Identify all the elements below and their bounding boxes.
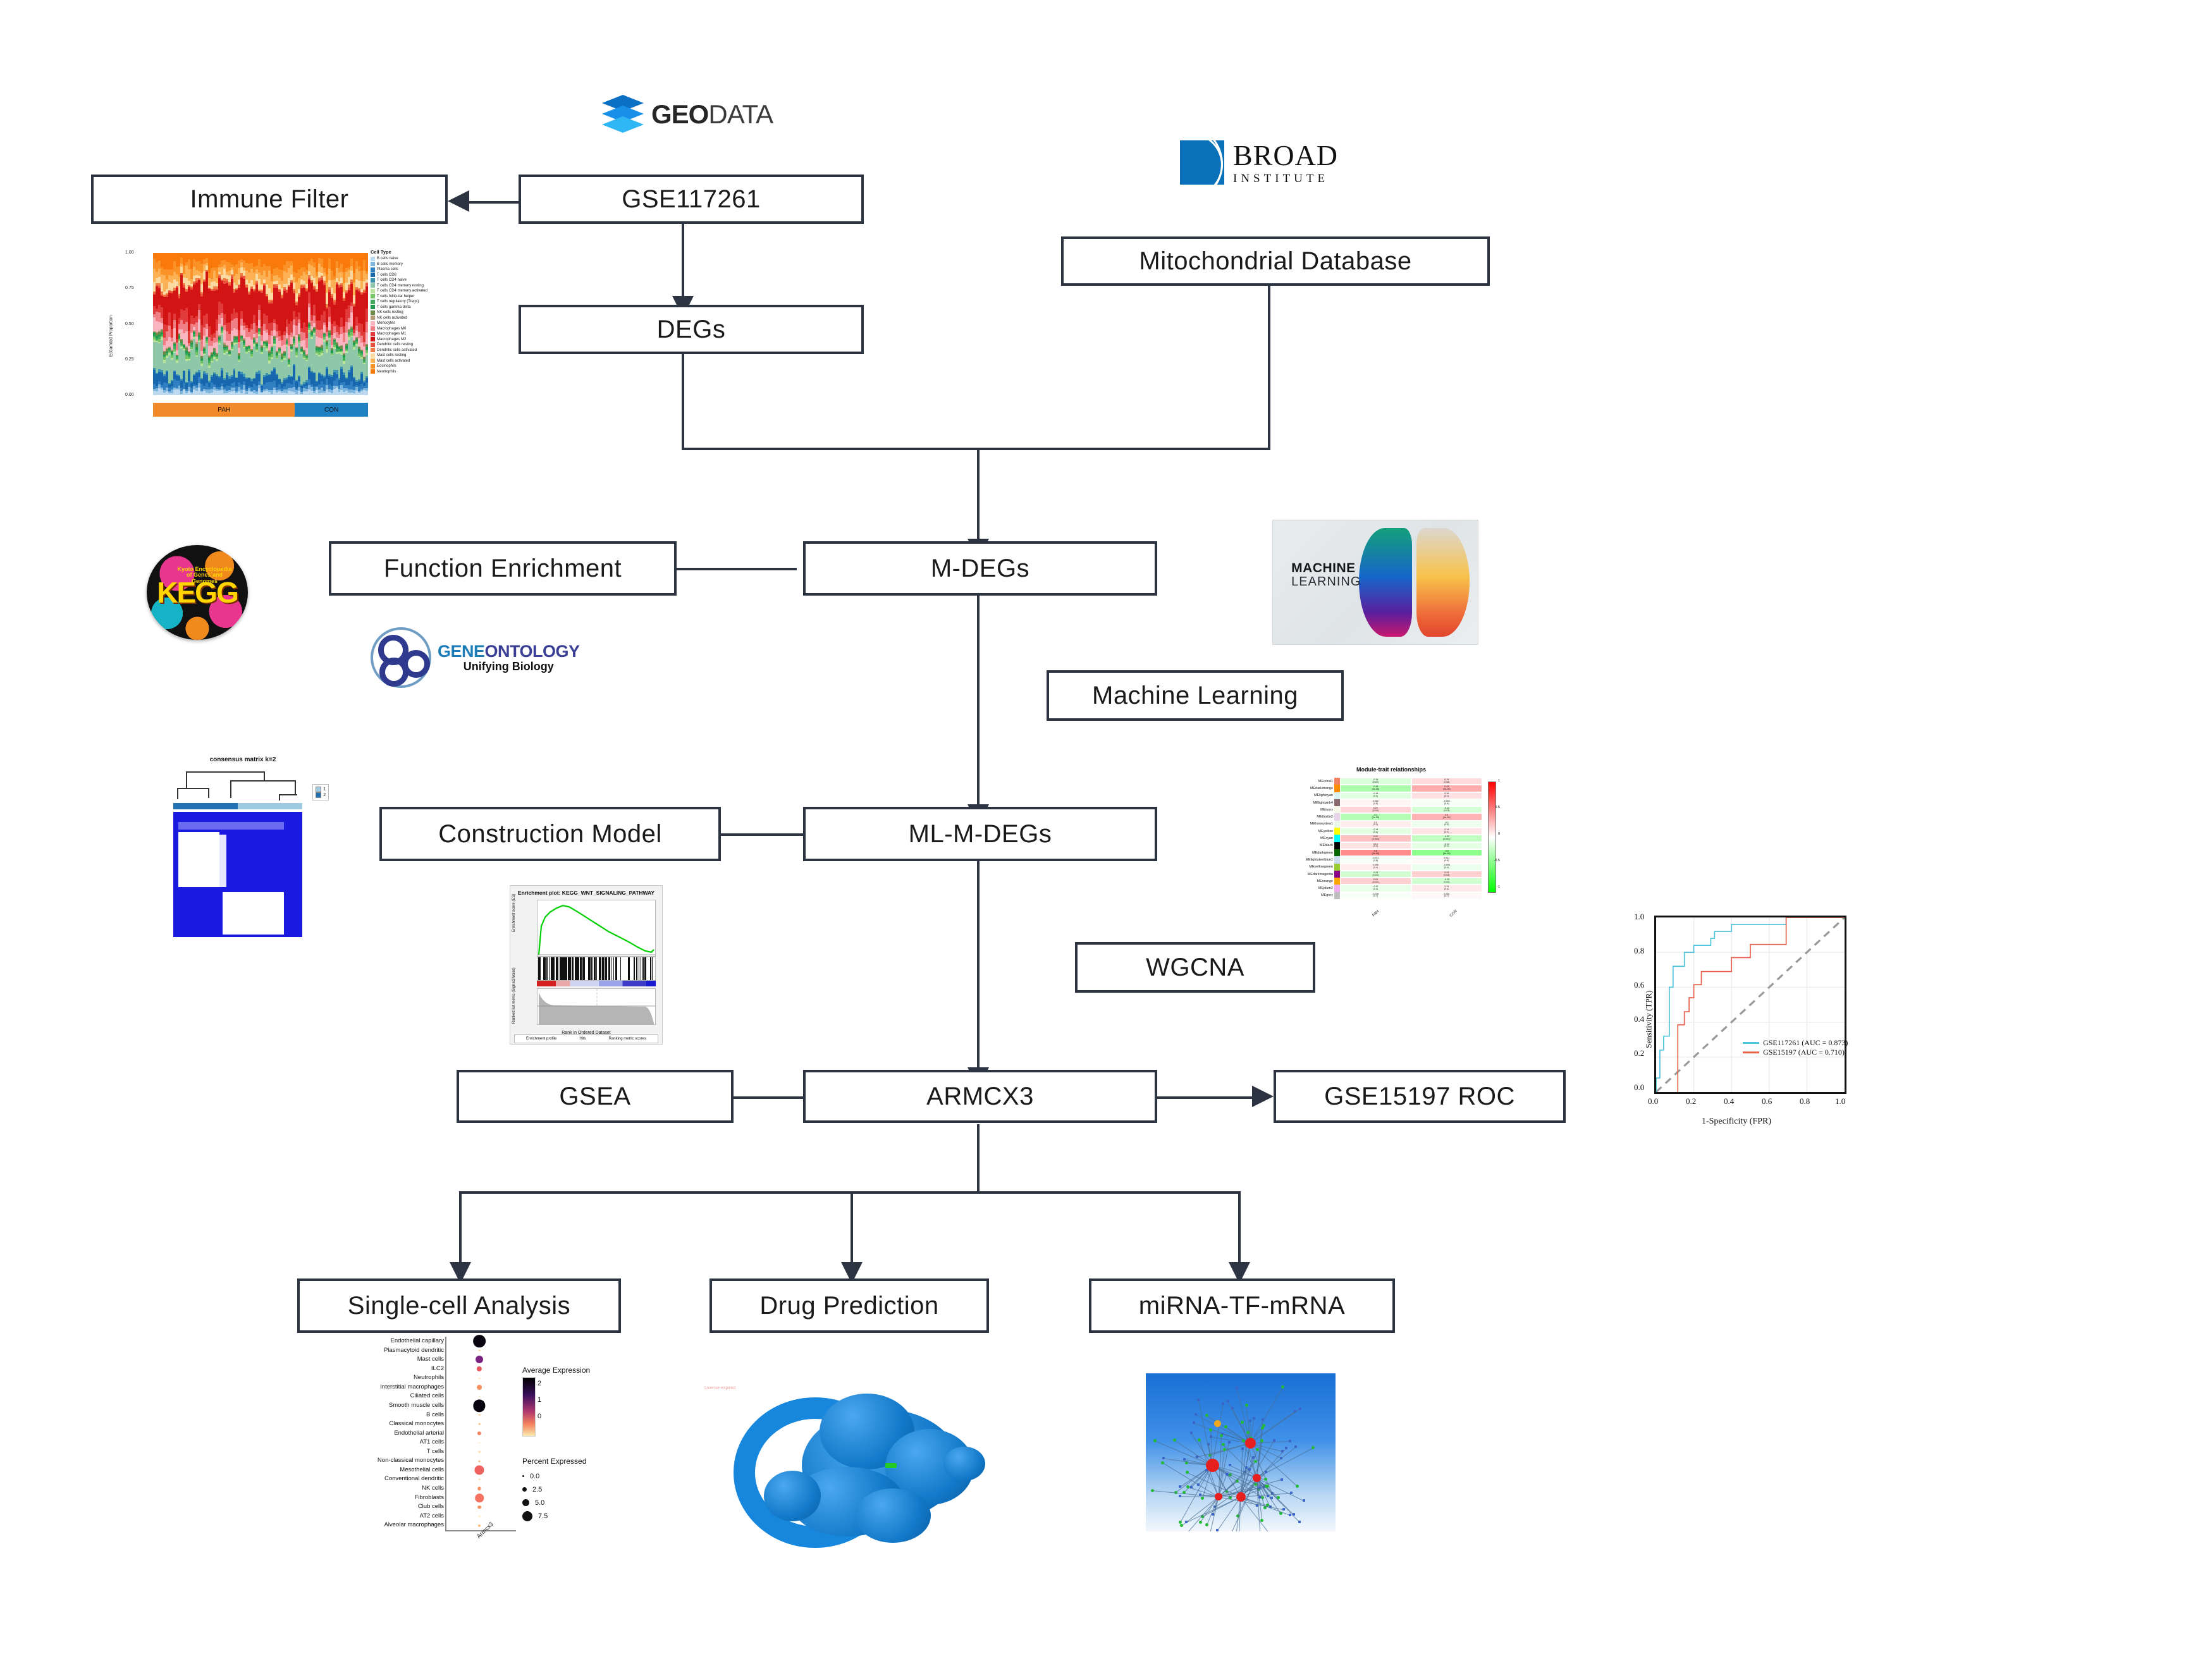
dotplot-row-label: Endothelial arterial [320, 1429, 444, 1438]
wgcna-module-label: MEdarkgreen [1284, 849, 1334, 856]
dotplot-row-label: ILC2 [320, 1364, 444, 1374]
node-function-enrichment[interactable]: Function Enrichment [329, 541, 677, 596]
gsea-hit-tick [636, 957, 637, 980]
dotplot-point [479, 1423, 481, 1425]
roc-legend-0: GSE117261 (AUC = 0.873) [1763, 1038, 1848, 1048]
wgcna-module-label: MElightsteelblue1 [1284, 856, 1334, 863]
wgcna-module-swatch [1334, 821, 1340, 828]
wgcna-cell-con: 0.031(0.8) [1411, 856, 1483, 863]
dotplot-row-label: Mesothelial cells [320, 1466, 444, 1475]
network-edge [1250, 1409, 1300, 1444]
immune-y-tick: 0.25 [125, 357, 134, 362]
network-mirna-node [1265, 1471, 1267, 1473]
gsea-hit-tick [568, 957, 569, 980]
wgcna-cell-pah: 0.1(0.4) [1340, 821, 1411, 828]
go-text-part2: ONTOLOGY [485, 642, 580, 661]
dotplot-row-label: Plasmacytoid dendritic [320, 1346, 444, 1356]
network-mirna-node [1249, 1419, 1251, 1422]
dotplot-point [477, 1366, 482, 1371]
wgcna-cell-pah: -0.43(4e-06) [1340, 785, 1411, 792]
network-mirna-node [1179, 1495, 1181, 1497]
network-hub-node [1245, 1438, 1256, 1449]
wgcna-module-swatch [1334, 842, 1340, 849]
dotplot-row-label: Interstitial macrophages [320, 1383, 444, 1392]
roc-y-axis-label: Sensitivity (TPR) [1644, 990, 1654, 1048]
wgcna-row: MEcoral1-0.19(0.05)0.19(0.05) [1284, 778, 1482, 785]
wgcna-cell-con: -0.1(0.4) [1411, 821, 1483, 828]
roc-legend-1: GSE15197 (AUC = 0.710) [1763, 1048, 1845, 1057]
broad-mark-icon [1180, 140, 1224, 185]
gsea-hit-tick [603, 957, 603, 980]
dotplot-point [478, 1524, 481, 1527]
gsea-hit-tick [642, 957, 643, 980]
dotplot-row-label: Neutrophils [320, 1373, 444, 1383]
wgcna-cell-pah: -0.031(0.8) [1340, 856, 1411, 863]
gsea-hit-tick [583, 957, 584, 980]
broad-logo-line2: INSTITUTE [1233, 173, 1338, 185]
network-mirna-node [1227, 1400, 1229, 1402]
consensus-matrix-figure: consensus matrix k=2 1 [157, 749, 329, 942]
wgcna-row: MElightpink40.052(0.6)-0.052(0.6) [1284, 799, 1482, 806]
go-tagline: Unifying Biology [438, 661, 580, 673]
immune-legend-item: Eosinophils [371, 364, 449, 369]
immune-y-axis-label: Estiamted Proportion [109, 315, 114, 356]
immune-legend-item: T cells follicular helper [371, 294, 449, 300]
immune-legend-title: Cell Type [371, 249, 449, 255]
immune-legend-item: T cells regulatory (Tregs) [371, 299, 449, 305]
kegg-logo-subtitle: Kyoto Encyclopedia of Genes and Genomes [175, 567, 235, 584]
wgcna-cell-pah: 0.22(0.03) [1340, 806, 1411, 813]
wgcna-cell-con: 0.24(0.03) [1411, 871, 1483, 878]
dotplot-row-label: Ciliated cells [320, 1392, 444, 1401]
wgcna-module-trait-figure: Module-trait relationships MEcoral1-0.19… [1284, 766, 1499, 918]
dotplot-row-labels: Endothelial capillaryPlasmacytoid dendri… [320, 1337, 444, 1530]
roc-y-tick-1: 0.2 [1634, 1048, 1644, 1058]
wgcna-colorbar-tick-0: 1 [1498, 779, 1500, 783]
roc-y-tick-4: 0.8 [1634, 946, 1644, 956]
roc-plot-area: GSE117261 (AUC = 0.873) GSE15197 (AUC = … [1654, 916, 1846, 1094]
edge-outputs-bar [459, 1191, 1241, 1194]
consensus-dendrogram [173, 768, 302, 800]
network-mirna-node [1282, 1508, 1285, 1511]
gsea-y-axis-label: Enrichment score (ES) [512, 894, 516, 932]
gene-ontology-text: GENEONTOLOGY Unifying Biology [438, 642, 580, 672]
node-m-degs[interactable]: M-DEGs [803, 541, 1157, 596]
wgcna-cell-con: -0.32(0.003) [1411, 835, 1483, 842]
ml-banner-line2: LEARNING [1291, 575, 1361, 589]
gsea-hit-tick [651, 957, 651, 980]
wgcna-row: MElightcyan-0.16(0.1)0.16(0.1) [1284, 792, 1482, 799]
immune-group-pah: PAH [153, 403, 295, 417]
dotplot-point [474, 1466, 484, 1475]
roc-x-tick-3: 0.6 [1762, 1096, 1772, 1107]
wgcna-module-label: MElightpink4 [1284, 799, 1334, 806]
network-mirna-node [1225, 1473, 1228, 1475]
network-mirna-node [1229, 1464, 1231, 1466]
wgcna-colorbar-tick-3: -0.5 [1494, 859, 1500, 862]
broad-logo-text: BROAD INSTITUTE [1233, 141, 1338, 185]
wgcna-cell-pah: -0.16(0.1) [1340, 792, 1411, 799]
wgcna-module-swatch [1334, 799, 1340, 806]
network-tf-node [1199, 1521, 1202, 1524]
network-mirna-node [1303, 1499, 1305, 1502]
roc-y-tick-0: 0.0 [1634, 1082, 1644, 1093]
gsea-hit-tick [609, 957, 610, 980]
node-immune-filter[interactable]: Immune Filter [91, 175, 448, 224]
dotplot-row-label: Alveolar macrophages [320, 1521, 444, 1530]
network-hub-node [1206, 1459, 1219, 1472]
wgcna-module-swatch [1334, 871, 1340, 878]
gene-ontology-mark-icon [371, 627, 431, 688]
network-tf-node [1224, 1425, 1227, 1428]
network-mirna-node [1258, 1487, 1261, 1489]
wgcna-cell-con: 0.14(0.2) [1411, 828, 1483, 835]
edge-merge-bar [682, 448, 1270, 450]
gsea-hits-panel [537, 957, 656, 981]
wgcna-row: MEyellow-0.14(0.2)0.14(0.2) [1284, 828, 1482, 835]
node-drug-prediction[interactable]: Drug Prediction [709, 1278, 989, 1333]
dotplot-pct-legend-title: Percent Expressed [522, 1457, 586, 1466]
wgcna-colorbar-tick-2: 0 [1498, 832, 1500, 836]
roc-x-axis-label: 1-Specificity (FPR) [1619, 1117, 1854, 1127]
network-hub-node [1236, 1492, 1246, 1502]
network-tf-node [1180, 1524, 1183, 1527]
edge-merge-to-mdegs [977, 448, 980, 541]
wgcna-module-label: MEcyan [1284, 835, 1334, 842]
network-mirna-node [1258, 1496, 1261, 1499]
wgcna-cell-con: -0.14(0.2) [1411, 842, 1483, 849]
wgcna-module-label: MEblack [1284, 842, 1334, 849]
wgcna-module-label: MEivory [1284, 806, 1334, 813]
gsea-hit-tick [567, 957, 567, 980]
network-tf-node [1223, 1448, 1226, 1451]
node-degs[interactable]: DEGs [519, 305, 864, 354]
gsea-hit-tick [602, 957, 603, 980]
geo-layers-icon [602, 95, 644, 134]
wgcna-module-label: MEorange [1284, 878, 1334, 885]
wgcna-x-tick-pah: PAH [1372, 910, 1380, 918]
dotplot-point [477, 1432, 481, 1435]
wgcna-module-swatch [1334, 806, 1340, 813]
wgcna-cell-con: -0.25(0.02) [1411, 878, 1483, 885]
gsea-hit-tick [554, 957, 555, 980]
node-armcx3[interactable]: ARMCX3 [803, 1070, 1157, 1123]
roc-x-tick-0: 0.0 [1648, 1096, 1658, 1107]
wgcna-module-swatch [1334, 885, 1340, 892]
wgcna-row: MEblack0.14(0.2)-0.14(0.2) [1284, 842, 1482, 849]
gsea-hit-tick [544, 957, 544, 980]
immune-legend-item: T cells CD4 memory resting [371, 283, 449, 289]
wgcna-module-swatch [1334, 856, 1340, 863]
network-mirna-node [1183, 1458, 1186, 1461]
dotplot-colorbar [522, 1377, 536, 1437]
wgcna-cell-con: 0.11(0.3) [1411, 885, 1483, 892]
wgcna-cell-pah: 0.096(0.4) [1340, 864, 1411, 871]
network-mirna-node [1190, 1432, 1193, 1434]
dotplot-point [479, 1442, 481, 1444]
consensus-matrix-heatmap [173, 812, 302, 937]
network-mirna-node [1241, 1447, 1244, 1450]
dotplot-row-label: Non-classical monocytes [320, 1456, 444, 1466]
gsea-hit-tick [613, 957, 614, 980]
immune-legend-item: B cells memory [371, 262, 449, 267]
gsea-hit-tick [581, 957, 582, 980]
workflow-diagram: GEODATA BROAD INSTITUTE KEGG Kyoto Encyc… [0, 0, 2205, 1680]
network-tf-node [1256, 1448, 1259, 1451]
network-tf-node [1245, 1404, 1248, 1407]
gsea-hit-tick [611, 957, 611, 980]
network-tf-node [1261, 1426, 1264, 1430]
wgcna-module-label: MEyellowgreen [1284, 864, 1334, 871]
network-tf-node [1241, 1421, 1244, 1424]
network-mirna-node [1197, 1399, 1200, 1401]
dotplot-row-label: NK cells [320, 1484, 444, 1493]
wgcna-module-label: MEhoneydew1 [1284, 821, 1334, 828]
wgcna-module-label: MElightcyan [1284, 792, 1334, 799]
network-tf-node [1281, 1385, 1284, 1389]
wgcna-row: MEplum2-0.11(0.3)0.11(0.3) [1284, 885, 1482, 892]
node-mirna-tf-mrna[interactable]: miRNA-TF-mRNA [1089, 1278, 1395, 1333]
roc-x-tick-5: 1.0 [1835, 1096, 1845, 1107]
network-tf-node [1311, 1446, 1315, 1449]
node-wgcna[interactable]: WGCNA [1075, 942, 1315, 993]
gsea-correlation-gradient [537, 981, 656, 986]
network-tf-node [1205, 1523, 1208, 1526]
network-mirna-node [1293, 1513, 1295, 1516]
immune-group-bar: PAHCON [153, 403, 368, 417]
geo-logo-light: DATA [708, 99, 773, 129]
go-text-part1: GENE [438, 642, 485, 661]
wgcna-cell-con: -0.22(0.03) [1411, 806, 1483, 813]
gsea-hit-tick [575, 957, 576, 980]
dotplot-point [479, 1350, 481, 1352]
wgcna-module-label: MEplum2 [1284, 885, 1334, 892]
dotplot-point [477, 1487, 481, 1490]
wgcna-module-label: MEgrey [1284, 892, 1334, 899]
gsea-ranked-metric-panel [537, 988, 656, 1025]
gsea-hit-tick [570, 957, 571, 980]
protein-surface [696, 1353, 993, 1543]
wgcna-cell-con: -0.6(3e-09) [1411, 849, 1483, 856]
gsea-hit-tick [549, 957, 550, 980]
wgcna-module-label: MEdarkmagenta [1284, 871, 1334, 878]
network-hub-node [1215, 1493, 1222, 1500]
consensus-legend: 1 2 [312, 784, 329, 800]
wgcna-cell-con: 0.16(0.1) [1411, 792, 1483, 799]
dotplot-row-label: B cells [320, 1411, 444, 1420]
network-mirna-node [1222, 1402, 1224, 1405]
immune-legend-item: Dendritic cells activated [371, 348, 449, 353]
network-mirna-node [1289, 1514, 1291, 1516]
network-mirna-node [1289, 1440, 1291, 1442]
wgcna-row: MEthistle2-0.4(2e-05)0.4(2e-05) [1284, 813, 1482, 820]
wgcna-cell-con: -0.052(0.6) [1411, 799, 1483, 806]
arrowhead-immune [448, 190, 469, 212]
roc-x-tick-4: 0.8 [1800, 1096, 1810, 1107]
immune-legend: Cell TypeB cells naiveB cells memoryPlas… [371, 249, 449, 374]
dotplot-pct-tick-1: 2.5 [532, 1486, 542, 1493]
network-tf-node [1198, 1438, 1201, 1442]
immune-legend-item: NK cells activated [371, 316, 449, 321]
protein-structure-figure: License expired [696, 1353, 993, 1543]
network-tf-node [1209, 1428, 1212, 1432]
wgcna-row: MEorange0.25(0.02)-0.25(0.02) [1284, 878, 1482, 885]
edge-mito-down [1268, 286, 1270, 450]
gsea-enrichment-score-panel [537, 900, 656, 957]
wgcna-cell-pah: -0.036(0.7) [1340, 892, 1411, 899]
dotplot-point [475, 1493, 484, 1502]
dotplot-point [473, 1335, 486, 1347]
roc-curves [1656, 917, 1845, 1092]
network-tf-node [1153, 1439, 1157, 1442]
network-tf-node [1254, 1460, 1257, 1463]
gsea-hit-tick [551, 957, 551, 980]
node-machine-learning[interactable]: Machine Learning [1047, 670, 1344, 721]
edge-gse-to-immune [469, 201, 519, 204]
network-mirna-node [1273, 1439, 1275, 1442]
broad-logo-line1: BROAD [1233, 141, 1338, 170]
wgcna-cell-pah: 0.14(0.2) [1340, 842, 1411, 849]
immune-legend-item: Monocytes [371, 321, 449, 326]
wgcna-cell-pah: 0.052(0.6) [1340, 799, 1411, 806]
gsea-hit-tick [578, 957, 579, 980]
dotplot-point [473, 1400, 485, 1412]
network-mirna-node [1298, 1521, 1301, 1523]
wgcna-module-swatch [1334, 892, 1340, 899]
wgcna-cell-con: 0.4(2e-05) [1411, 813, 1483, 820]
roc-x-tick-1: 0.2 [1686, 1096, 1696, 1107]
node-gse117261[interactable]: GSE117261 [519, 175, 864, 224]
network-tf-node [1264, 1478, 1267, 1481]
wgcna-module-swatch [1334, 864, 1340, 871]
node-construction-model[interactable]: Construction Model [379, 807, 721, 861]
kegg-logo: KEGG Kyoto Encyclopedia of Genes and Gen… [147, 545, 248, 640]
dotplot-point [479, 1395, 481, 1397]
dotplot-row-label: AT1 cells [320, 1438, 444, 1447]
wgcna-row: MEivory0.22(0.03)-0.22(0.03) [1284, 806, 1482, 813]
immune-group-con: CON [295, 403, 368, 417]
node-gse15197-roc[interactable]: GSE15197 ROC [1274, 1070, 1566, 1123]
roc-y-tick-2: 0.4 [1634, 1014, 1644, 1024]
node-mitochondrial-database[interactable]: Mitochondrial Database [1061, 236, 1490, 286]
single-cell-dotplot-figure: Endothelial capillaryPlasmacytoid dendri… [320, 1333, 636, 1554]
consensus-legend-2: 2 [323, 793, 326, 797]
edge-armcx3-to-roc [1157, 1096, 1252, 1099]
edge-mdegs-to-mlmdegs [977, 596, 980, 807]
dotplot-point [476, 1356, 483, 1363]
immune-legend-item: NK cells resting [371, 310, 449, 316]
roc-curve-figure: Sensitivity (TPR) 1-Specificity (FPR) GS… [1619, 909, 1854, 1129]
network-mirna-node [1290, 1492, 1293, 1494]
wgcna-cell-con: 0.19(0.05) [1411, 778, 1483, 785]
wgcna-cell-pah: -0.4(2e-05) [1340, 813, 1411, 820]
wgcna-module-swatch [1334, 778, 1340, 785]
dotplot-point [477, 1385, 482, 1390]
gsea-hit-tick [560, 957, 560, 980]
wgcna-module-label: MEthistle2 [1284, 813, 1334, 820]
gsea-legend-0: Enrichment profile [526, 1037, 556, 1041]
node-single-cell-analysis[interactable]: Single-cell Analysis [297, 1278, 621, 1333]
dotplot-pct-tick-2: 5.0 [535, 1499, 544, 1507]
network-tf-node [1151, 1489, 1154, 1492]
dotplot-point [479, 1460, 481, 1462]
dotplot-pct-tick-0: 0.0 [530, 1473, 539, 1480]
mirna-tf-mrna-network-figure [1146, 1373, 1336, 1531]
gsea-legend-1: Hits [579, 1037, 586, 1041]
dotplot-avg-tick-0: 2 [537, 1380, 541, 1396]
gsea-hit-tick [539, 957, 540, 980]
wgcna-module-label: MEdarkorange [1284, 785, 1334, 792]
wgcna-module-swatch [1334, 785, 1340, 792]
edge-gse-to-degs [682, 224, 684, 298]
dotplot-row-label: T cells [320, 1447, 444, 1457]
dotplot-point [479, 1516, 481, 1518]
wgcna-cell-pah: -0.19(0.05) [1340, 778, 1411, 785]
network-mirna-node [1253, 1417, 1255, 1419]
node-gsea[interactable]: GSEA [457, 1070, 734, 1123]
immune-filter-stacked-bar-figure: Estiamted Proportion Cell TypeB cells na… [114, 247, 449, 420]
immune-legend-item: Macrophages M1 [371, 331, 449, 337]
wgcna-row: MEhoneydew10.1(0.4)-0.1(0.4) [1284, 821, 1482, 828]
network-tf-node [1179, 1521, 1182, 1524]
dotplot-avg-tick-1: 1 [537, 1396, 541, 1413]
wgcna-row: MEcyan0.32(0.003)-0.32(0.003) [1284, 835, 1482, 842]
gsea-hit-tick [629, 957, 629, 980]
gsea-hit-tick [557, 957, 558, 980]
wgcna-module-label: MEcoral1 [1284, 778, 1334, 785]
network-tf-node [1296, 1485, 1299, 1488]
network-tf-node [1186, 1471, 1189, 1474]
wgcna-row: MEdarkgreen0.6(3e-09)-0.6(3e-09) [1284, 849, 1482, 856]
immune-legend-item: Macrophages M2 [371, 337, 449, 343]
immune-y-tick: 0.50 [125, 322, 134, 326]
network-edge [1250, 1387, 1283, 1443]
immune-legend-item: T cells CD8 [371, 273, 449, 278]
immune-legend-item: Macrophages M0 [371, 326, 449, 332]
dotplot-point [477, 1505, 481, 1509]
wgcna-cell-con: 0.43(4e-06) [1411, 785, 1483, 792]
edge-mlmdegs-to-armcx3 [977, 861, 980, 1070]
network-tf-node [1205, 1414, 1208, 1417]
roc-x-tick-2: 0.4 [1724, 1096, 1734, 1107]
roc-y-tick-3: 0.6 [1634, 980, 1644, 990]
dotplot-row-label: Smooth muscle cells [320, 1401, 444, 1411]
wgcna-cell-con: 0.036(0.7) [1411, 892, 1483, 899]
edge-degs-down [682, 354, 684, 450]
wgcna-x-tick-con: CON [1449, 909, 1458, 918]
gsea-hit-tick [563, 957, 563, 980]
edge-to-mirna [1238, 1191, 1241, 1265]
gsea-hit-tick [639, 957, 639, 980]
wgcna-cell-pah: -0.24(0.03) [1340, 871, 1411, 878]
dotplot-point [479, 1451, 481, 1453]
node-ml-m-degs[interactable]: ML-M-DEGs [803, 807, 1157, 861]
dotplot-point [479, 1479, 481, 1481]
edge-to-singlecell [459, 1191, 462, 1265]
edge-armcx3-to-gsea [734, 1096, 803, 1099]
wgcna-module-swatch [1334, 878, 1340, 885]
network-tf-node [1260, 1519, 1263, 1522]
dotplot-row-label: Club cells [320, 1502, 444, 1512]
dotplot-row-label: Endothelial capillary [320, 1337, 444, 1346]
wgcna-module-swatch [1334, 835, 1340, 842]
brain-anatomy-half [1416, 528, 1470, 637]
network-mirna-node [1294, 1445, 1297, 1448]
gsea-hit-tick [600, 957, 601, 980]
wgcna-module-swatch [1334, 849, 1340, 856]
gsea-hit-tick [588, 957, 589, 980]
dotplot-avg-tick-2: 0 [537, 1413, 541, 1429]
